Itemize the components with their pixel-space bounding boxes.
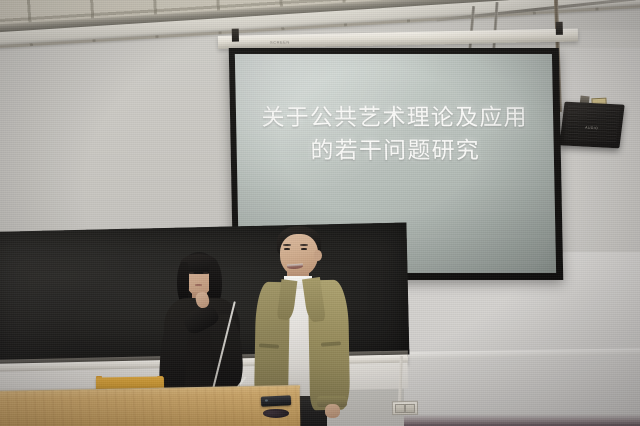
wood-grain (0, 386, 300, 426)
speaker-brand-label: AUDIO (585, 126, 599, 131)
wall-outlet[interactable] (392, 401, 418, 415)
eyebrow-left (283, 244, 291, 246)
wooden-desk (0, 386, 300, 426)
ear (314, 250, 322, 261)
floor-shadow (404, 414, 640, 426)
eyebrow-right (300, 244, 308, 246)
outlet-socket-right[interactable] (405, 404, 415, 413)
eye-left (284, 248, 290, 250)
dark-object-on-desk (263, 409, 289, 418)
housing-brand-label: SCREEN (270, 39, 290, 44)
eye-right (301, 248, 307, 250)
outlet-socket-left[interactable] (395, 404, 405, 413)
eye-left (189, 272, 194, 274)
housing-bracket-left (232, 29, 239, 42)
housing-bracket-right (556, 22, 563, 35)
wireless-microphone-base[interactable] (261, 395, 291, 407)
mouth (195, 284, 202, 286)
eye-right (203, 272, 208, 274)
device-led-icon (265, 399, 268, 401)
classroom-photo: AUDIO SCREEN 关于公共艺术理论及应用 的若干问题研究 (0, 0, 640, 426)
wall-speaker: AUDIO (559, 102, 624, 149)
hand-right (325, 404, 340, 418)
